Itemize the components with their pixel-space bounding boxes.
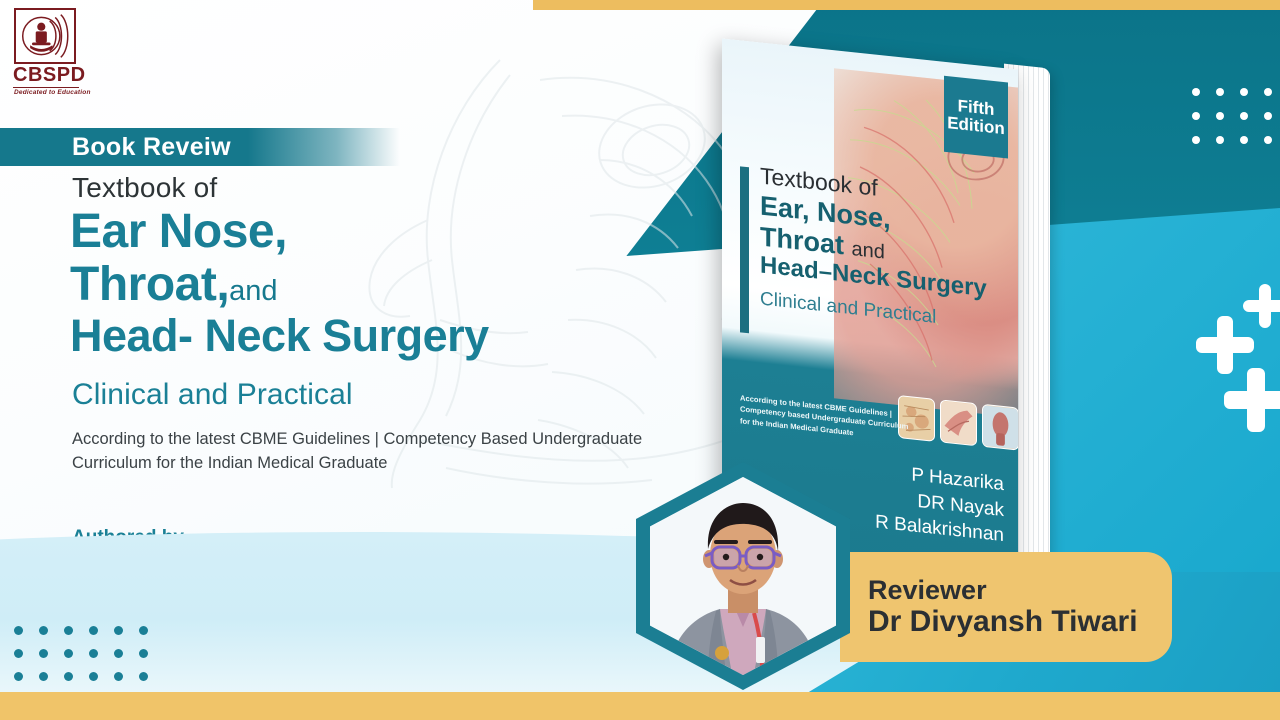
book-review-ribbon: Book Reveiw [0, 128, 400, 166]
cbspd-logo: CBSPD Dedicated to Education [12, 8, 92, 94]
book-review-label: Book Reveiw [0, 133, 231, 162]
book-edition-badge: Fifth Edition [944, 76, 1008, 159]
cbspd-logo-icon [14, 8, 76, 64]
promo-banner: CBSPD Dedicated to Education Book Reveiw… [0, 0, 1280, 720]
headline-line-1: Ear Nose, [70, 208, 690, 255]
reviewer-label: Reviewer [868, 575, 1172, 605]
teal-dot-grid [14, 626, 164, 695]
headline-description: According to the latest CBME Guidelines … [72, 428, 652, 476]
cbspd-logo-wordmark: CBSPD [12, 65, 92, 86]
book-cover-title-3-and: and [852, 238, 885, 264]
headline-title-block: Ear Nose, Throat,and Head- Neck Surgery [70, 208, 690, 358]
edition-line-2: Edition [947, 114, 1005, 138]
headline-pretitle: Textbook of [72, 172, 217, 204]
bottom-gold-accent-bar [0, 692, 1280, 720]
nasal-cavity-anatomy-thumbnail [940, 399, 977, 446]
white-dot-grid [1192, 88, 1280, 160]
headline-line-2-and: and [229, 275, 277, 307]
book-cover-accent-bar [740, 166, 749, 333]
headline-line-2-main: Throat, [70, 258, 229, 311]
larynx-anatomy-thumbnail [982, 404, 1018, 451]
headline-subtitle: Clinical and Practical [72, 378, 353, 412]
top-gold-accent-bar [533, 0, 1280, 10]
book-cover-authors: P Hazarika DR Nayak R Balakrishnan [824, 453, 1004, 549]
reviewer-portrait-photo [650, 477, 836, 675]
medical-cross-icon-large [1224, 368, 1280, 432]
headline-line-3: Head- Neck Surgery [70, 314, 690, 358]
logo-divider [13, 87, 79, 88]
cbspd-logo-tagline: Dedicated to Education [12, 89, 92, 96]
headline-line-2: Throat,and [70, 261, 690, 308]
medical-cross-icon-medium [1196, 316, 1254, 374]
reviewer-banner: Reviewer Dr Divyansh Tiwari [840, 552, 1172, 662]
book-cover-title-block: Textbook of Ear, Nose, Throat and Head–N… [740, 162, 990, 334]
reviewer-name: Dr Divyansh Tiwari [868, 605, 1172, 639]
